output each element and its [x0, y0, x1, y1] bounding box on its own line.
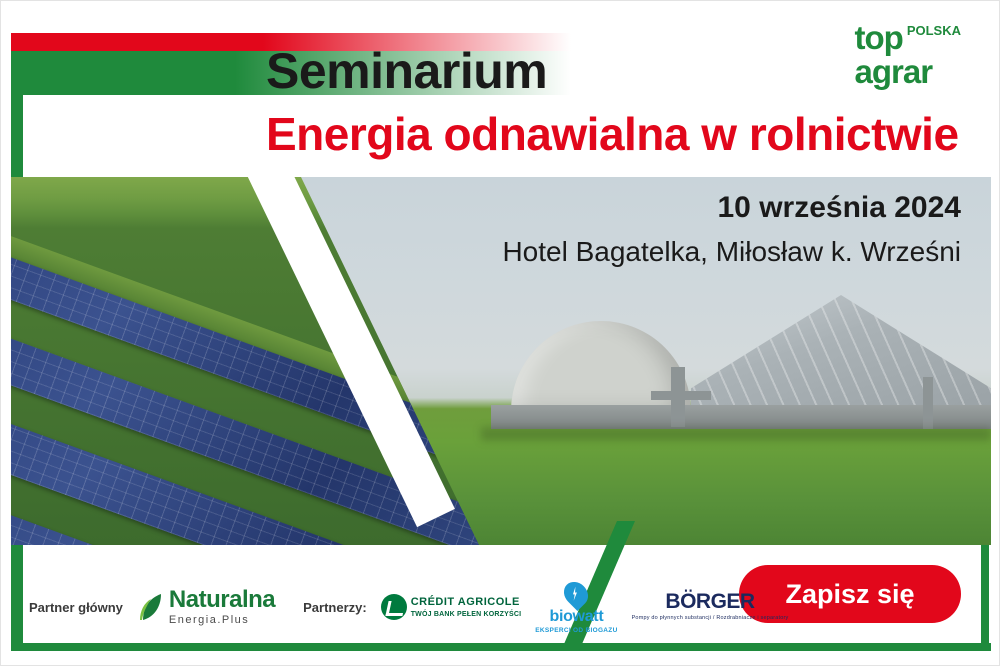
top-agrar-logo: topPOLSKA agrar	[855, 21, 961, 88]
plant-pipe-2	[651, 391, 711, 400]
partner-borger-name: BÖRGER	[632, 591, 789, 612]
logo-word-agrar: agrar	[855, 55, 961, 88]
biogas-dome-shape	[511, 321, 691, 417]
partner-ca-sub: TWÓJ BANK PEŁEN KORZYŚCI	[411, 611, 522, 618]
partner-logo-borger[interactable]: BÖRGER Pompy do płynnych substancji / Ro…	[632, 591, 789, 622]
partner-biowatt-sub: EKSPERCI OD BIOGAZU	[535, 627, 617, 634]
bottom-green-edge	[11, 643, 991, 651]
biogas-silo-texture	[691, 295, 991, 421]
partner-logo-naturalna[interactable]: Naturalna Energia.Plus	[137, 588, 275, 626]
event-venue: Hotel Bagatelka, Miłosław k. Wrześni	[502, 236, 961, 268]
plant-ground-shadow	[481, 427, 991, 441]
plant-base-shape	[491, 405, 991, 429]
biowatt-drop-icon	[559, 577, 593, 611]
partner-logo-credit-agricole[interactable]: CRÉDIT AGRICOLE TWÓJ BANK PEŁEN KORZYŚCI	[381, 594, 522, 620]
event-date: 10 września 2024	[717, 191, 961, 225]
partners-label: Partnerzy:	[303, 600, 367, 615]
partner-naturalna-sub: Energia.Plus	[169, 614, 275, 626]
credit-agricole-icon	[381, 594, 407, 620]
partner-logo-biowatt[interactable]: biowatt EKSPERCI OD BIOGAZU	[535, 581, 617, 634]
partners-bar: Partner główny Naturalna Energia.Plus Pa…	[29, 577, 788, 637]
imagery-band	[11, 177, 991, 545]
logo-word-polska: POLSKA	[907, 24, 961, 37]
plant-pipe-3	[923, 377, 933, 429]
kicker-title: Seminarium	[266, 45, 547, 98]
leaf-icon	[137, 593, 163, 621]
main-partner-label: Partner główny	[29, 600, 123, 615]
page-title: Energia odnawialna w rolnictwie	[266, 109, 959, 160]
partner-naturalna-name: Naturalna	[169, 588, 275, 612]
logo-word-top: top	[855, 21, 903, 54]
seminar-banner: Seminarium Energia odnawialna w rolnictw…	[0, 0, 1000, 666]
partner-borger-sub: Pompy do płynnych substancji / Rozdrabni…	[632, 615, 789, 622]
partner-ca-name: CRÉDIT AGRICOLE	[411, 596, 522, 608]
